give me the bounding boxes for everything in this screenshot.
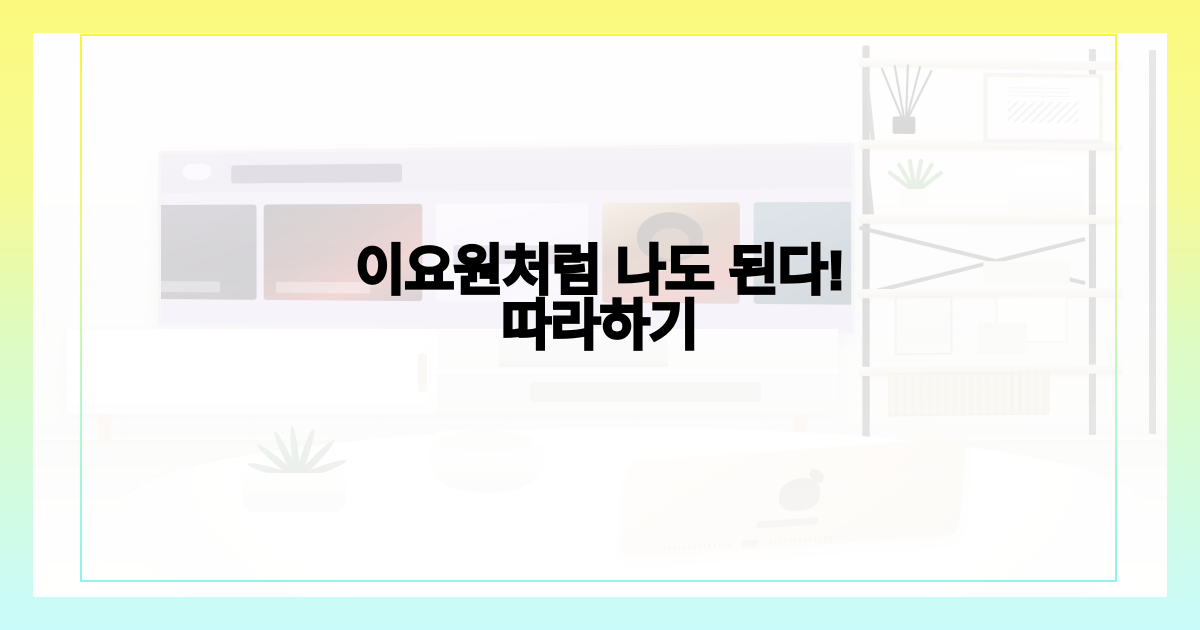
headline-line-2: 따라하기: [0, 299, 1200, 354]
tablet-speaker-grill: [663, 543, 731, 552]
console-handle: [418, 353, 427, 392]
tablet-home-button: [741, 540, 759, 548]
art-text-lines: [1007, 87, 1070, 98]
tablet-wordmark: [756, 518, 818, 529]
console-leg: [98, 414, 111, 442]
succulent-plant: [226, 422, 362, 512]
console-box: [530, 382, 761, 402]
diffuser-bottle: [892, 117, 915, 134]
tablet-speaker-grill: [769, 535, 844, 544]
art-illustration: [1007, 102, 1079, 124]
succulent-pot: [242, 473, 345, 513]
framed-art: [983, 73, 1103, 144]
headline-line-1: 이요원처럼 나도 된다!: [0, 244, 1200, 299]
tv-title-bar: [231, 164, 402, 184]
console-shelf-divider: [437, 370, 838, 373]
shelf-post: [1149, 50, 1156, 434]
ceramic-bowl: [430, 431, 543, 493]
bowl-rim: [439, 431, 534, 452]
reed-diffuser: [885, 67, 923, 134]
page-title: 이요원처럼 나도 된다! 따라하기: [0, 244, 1200, 354]
apple-logo-icon: [778, 477, 822, 513]
shelf-unit: [843, 45, 1156, 438]
shelf-plant: [888, 155, 939, 210]
plant-pot: [899, 188, 927, 210]
table-lamp: [1008, 164, 1082, 215]
tv-profile-icon: [183, 164, 211, 180]
thumbnail-canvas: 이요원처럼 나도 된다! 따라하기: [0, 0, 1200, 630]
woven-basket: [888, 371, 1049, 416]
shelf-board: [859, 214, 1122, 224]
